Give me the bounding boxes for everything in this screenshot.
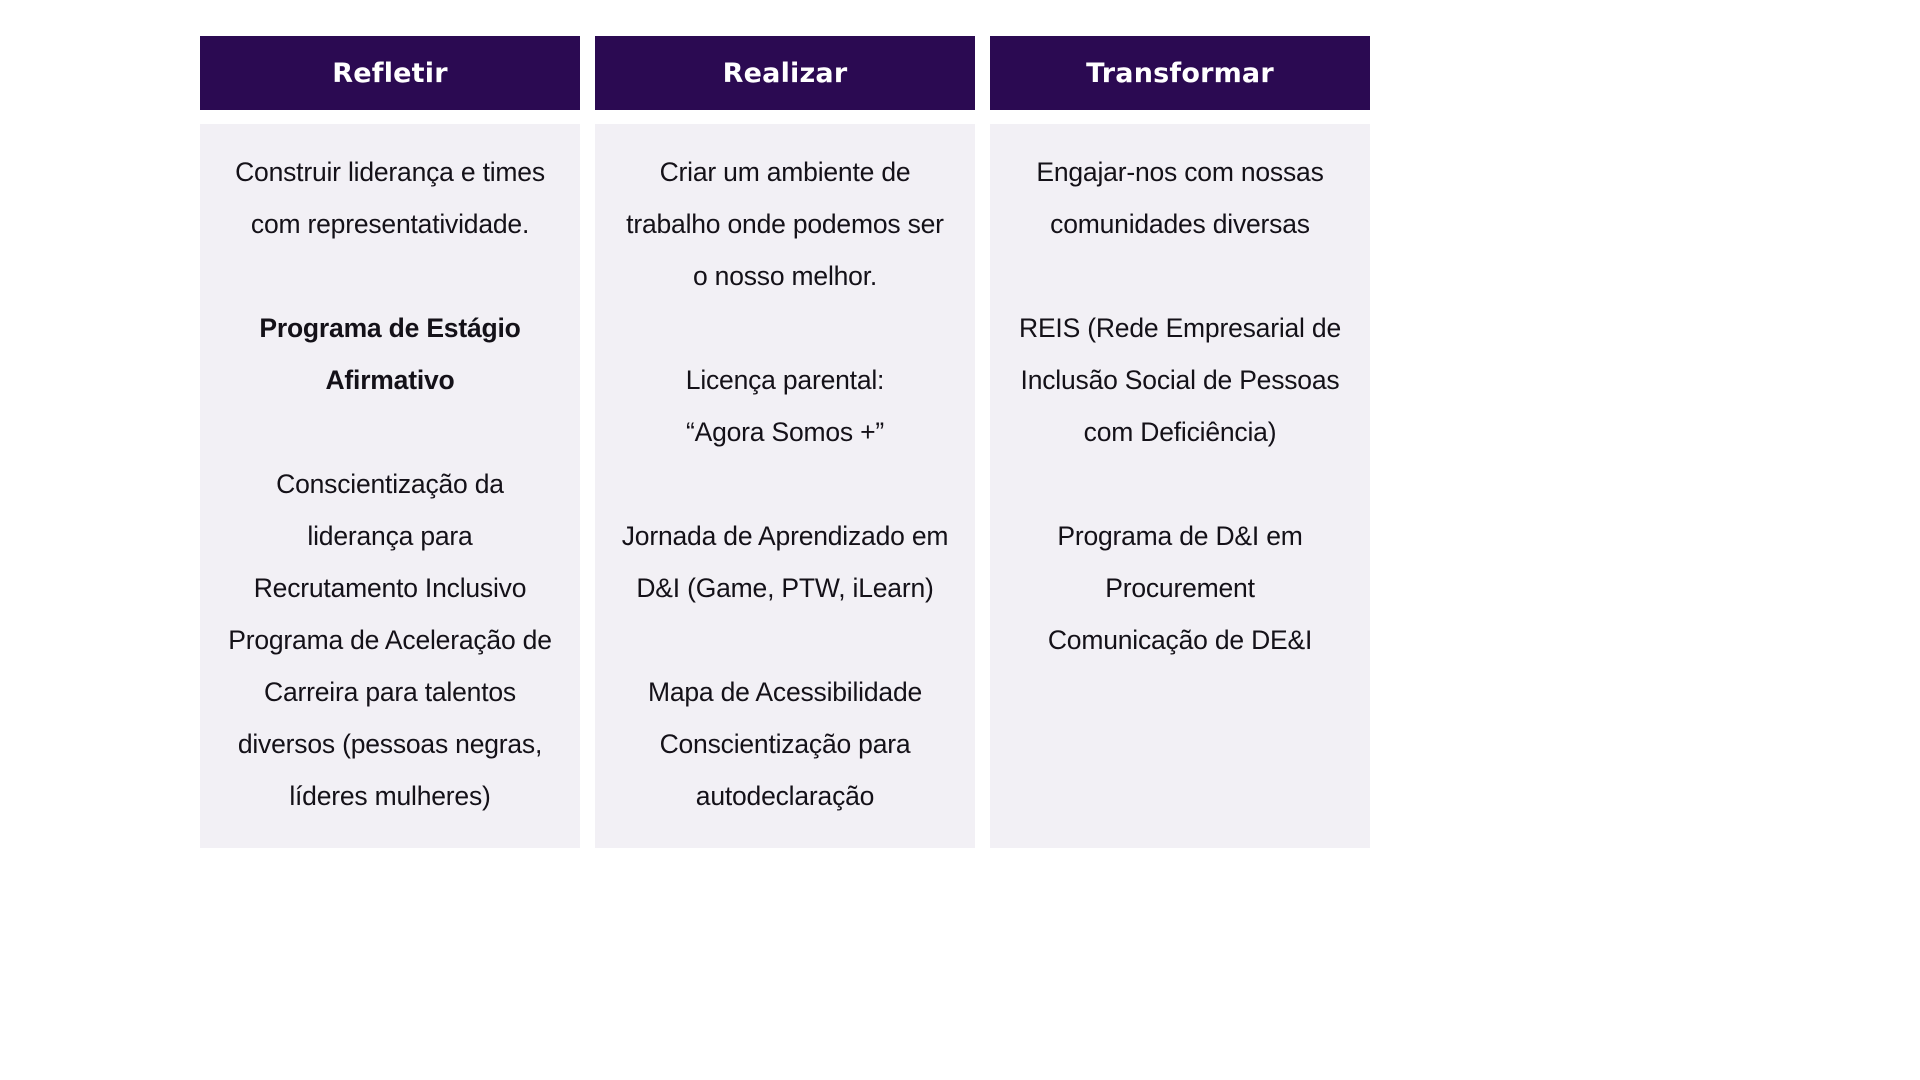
text-line: autodeclaração [609, 770, 961, 822]
text-line: com Deficiência) [1004, 406, 1356, 458]
text-line: líderes mulheres) [214, 770, 566, 822]
block-spacer [609, 302, 961, 354]
text-line: o nosso melhor. [609, 250, 961, 302]
text-line: Engajar-nos com nossas [1004, 146, 1356, 198]
text-block-transformar-reis: REIS (Rede Empresarial deInclusão Social… [1004, 302, 1356, 458]
block-spacer [214, 250, 566, 302]
text-line: D&I (Game, PTW, iLearn) [609, 562, 961, 614]
text-block-realizar-licenca-parental: Licença parental:“Agora Somos +” [609, 354, 961, 458]
text-line: comunidades diversas [1004, 198, 1356, 250]
text-line: Mapa de Acessibilidade [609, 666, 961, 718]
text-line: Conscientização da [214, 458, 566, 510]
text-line: liderança para [214, 510, 566, 562]
text-line: diversos (pessoas negras, [214, 718, 566, 770]
text-line: Conscientização para [609, 718, 961, 770]
text-line: Construir liderança e times [214, 146, 566, 198]
column-body-refletir: Construir liderança e timescom represent… [200, 124, 580, 848]
text-block-realizar-intro: Criar um ambiente detrabalho onde podemo… [609, 146, 961, 302]
text-line: Carreira para talentos [214, 666, 566, 718]
text-block-realizar-mapa-acessibilidade: Mapa de AcessibilidadeConscientização pa… [609, 666, 961, 822]
text-line: Jornada de Aprendizado em [609, 510, 961, 562]
text-line: trabalho onde podemos ser [609, 198, 961, 250]
column-header-transformar[interactable]: Transformar [990, 36, 1370, 110]
text-line: Recrutamento Inclusivo [214, 562, 566, 614]
text-line: “Agora Somos +” [609, 406, 961, 458]
column-transformar: TransformarEngajar-nos com nossascomunid… [990, 36, 1370, 848]
text-block-refletir-intro: Construir liderança e timescom represent… [214, 146, 566, 250]
column-header-refletir[interactable]: Refletir [200, 36, 580, 110]
three-column-layout: RefletirConstruir liderança e timescom r… [200, 36, 1370, 848]
block-spacer [609, 458, 961, 510]
block-spacer [214, 406, 566, 458]
column-header-label-realizar: Realizar [723, 60, 848, 87]
text-line: Afirmativo [214, 354, 566, 406]
column-body-realizar: Criar um ambiente detrabalho onde podemo… [595, 124, 975, 848]
text-block-transformar-procurement: Programa de D&I emProcurementComunicação… [1004, 510, 1356, 666]
text-line: Comunicação de DE&I [1004, 614, 1356, 666]
column-body-transformar: Engajar-nos com nossascomunidades divers… [990, 124, 1370, 848]
column-header-label-refletir: Refletir [332, 60, 448, 87]
text-line: Inclusão Social de Pessoas [1004, 354, 1356, 406]
column-header-label-transformar: Transformar [1086, 60, 1274, 87]
slide-canvas: RefletirConstruir liderança e timescom r… [0, 0, 1920, 1080]
column-realizar: RealizarCriar um ambiente detrabalho ond… [595, 36, 975, 848]
text-line: com representatividade. [214, 198, 566, 250]
text-line: REIS (Rede Empresarial de [1004, 302, 1356, 354]
text-block-realizar-jornada-aprendizado: Jornada de Aprendizado emD&I (Game, PTW,… [609, 510, 961, 614]
text-block-refletir-programa-estagio: Programa de EstágioAfirmativo [214, 302, 566, 406]
column-refletir: RefletirConstruir liderança e timescom r… [200, 36, 580, 848]
text-block-refletir-conscientizacao: Conscientização daliderança paraRecrutam… [214, 458, 566, 822]
text-line: Procurement [1004, 562, 1356, 614]
text-line: Criar um ambiente de [609, 146, 961, 198]
text-line: Programa de Aceleração de [214, 614, 566, 666]
block-spacer [609, 614, 961, 666]
block-spacer [1004, 250, 1356, 302]
block-spacer [1004, 458, 1356, 510]
text-line: Programa de D&I em [1004, 510, 1356, 562]
text-line: Licença parental: [609, 354, 961, 406]
column-header-realizar[interactable]: Realizar [595, 36, 975, 110]
text-block-transformar-intro: Engajar-nos com nossascomunidades divers… [1004, 146, 1356, 250]
text-line: Programa de Estágio [214, 302, 566, 354]
